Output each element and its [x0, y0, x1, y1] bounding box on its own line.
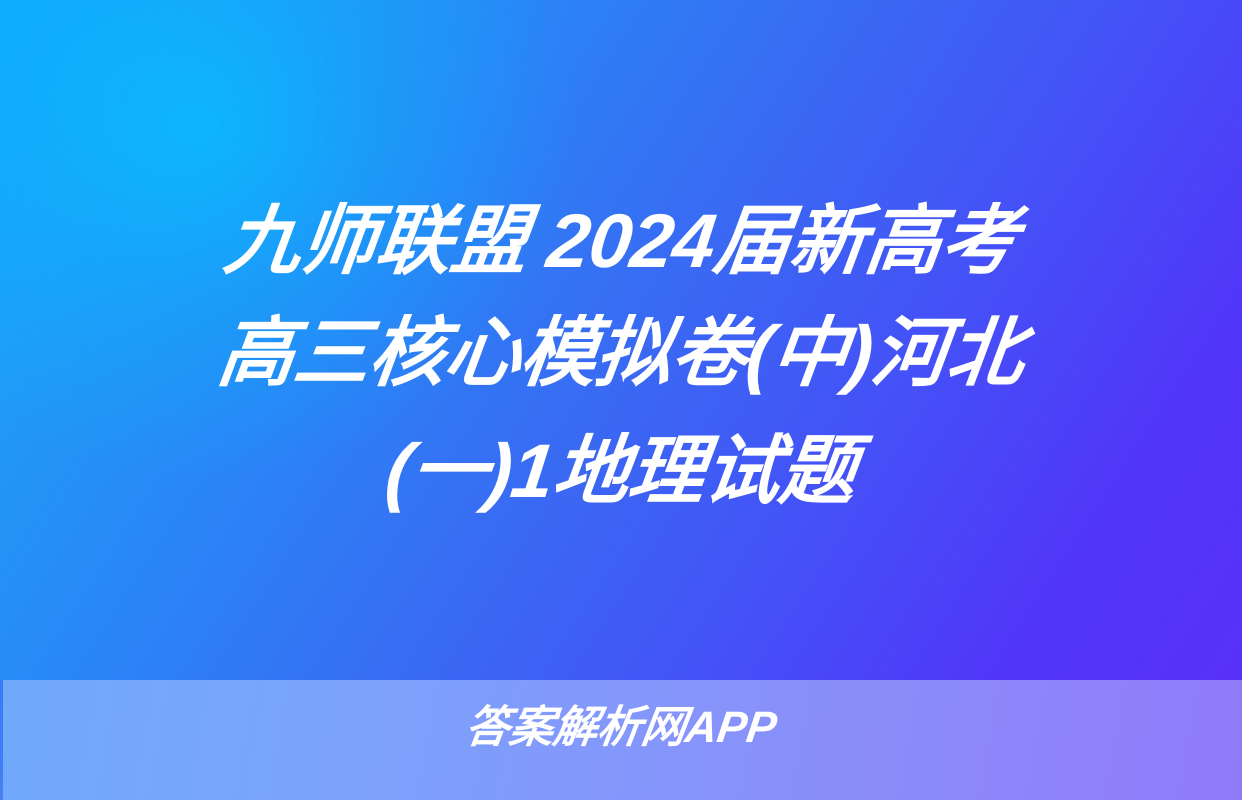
footer-watermark-text: 答案解析网APP	[0, 702, 1242, 754]
footer-watermark-band: 答案解析网APP	[0, 680, 1242, 800]
title-line-3: (一)1地理试题	[0, 416, 1242, 528]
exam-cover-card: 九师联盟 2024届新高考 高三核心模拟卷(中)河北 (一)1地理试题 答案解析…	[0, 0, 1242, 800]
title-line-1: 九师联盟 2024届新高考	[0, 186, 1242, 298]
title-line-2: 高三核心模拟卷(中)河北	[0, 298, 1242, 410]
title-block: 九师联盟 2024届新高考 高三核心模拟卷(中)河北 (一)1地理试题	[0, 186, 1242, 528]
